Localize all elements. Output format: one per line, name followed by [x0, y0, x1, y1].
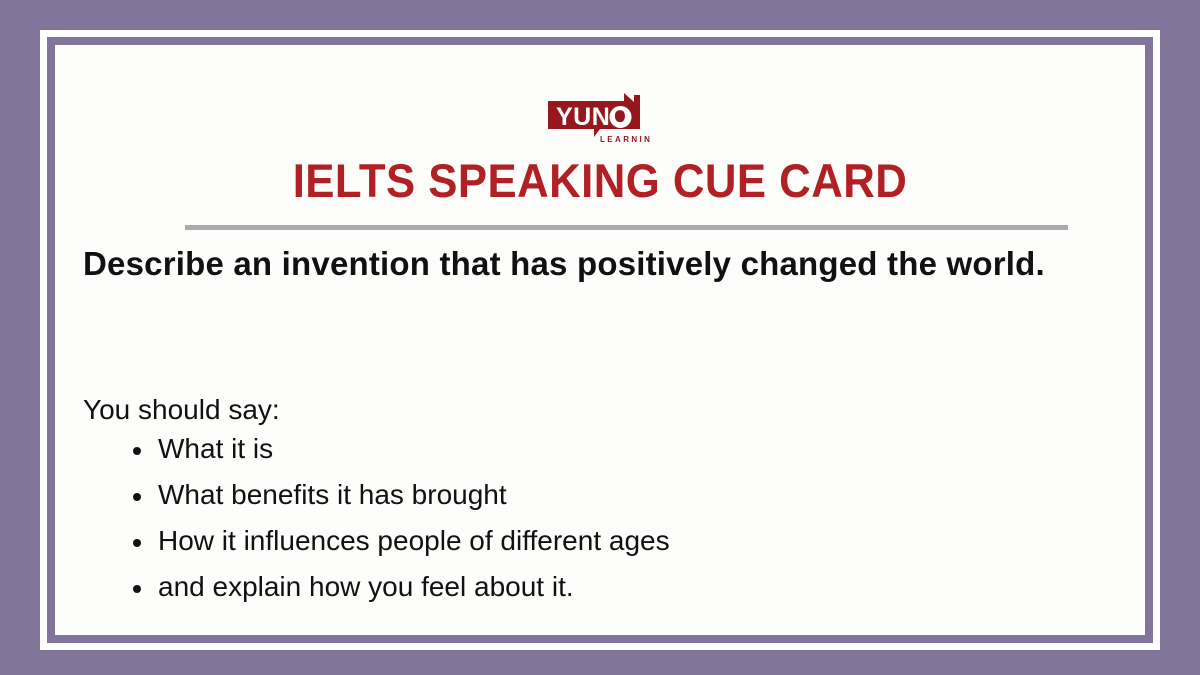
cue-card: YUNO LEARNING IELTS SPEAKING CUE CARD De…: [55, 45, 1145, 635]
list-item: How it influences people of different ag…: [131, 527, 1151, 555]
yuno-learning-logo: YUNO LEARNING: [548, 93, 652, 145]
logo-container: YUNO LEARNING: [55, 93, 1145, 145]
cue-bullet-list: What it is What benefits it has brought …: [83, 435, 1151, 619]
list-item: What it is: [131, 435, 1151, 463]
logo-tagline-text: LEARNING: [600, 135, 652, 144]
list-item: What benefits it has brought: [131, 481, 1151, 509]
title-divider: [185, 225, 1068, 230]
list-item: and explain how you feel about it.: [131, 573, 1151, 601]
prompt-label: You should say:: [83, 393, 280, 427]
question-text: Describe an invention that has positivel…: [83, 241, 1129, 287]
page-title: IELTS SPEAKING CUE CARD: [93, 157, 1107, 204]
logo-mark-icon: YUNO LEARNING: [548, 93, 652, 145]
